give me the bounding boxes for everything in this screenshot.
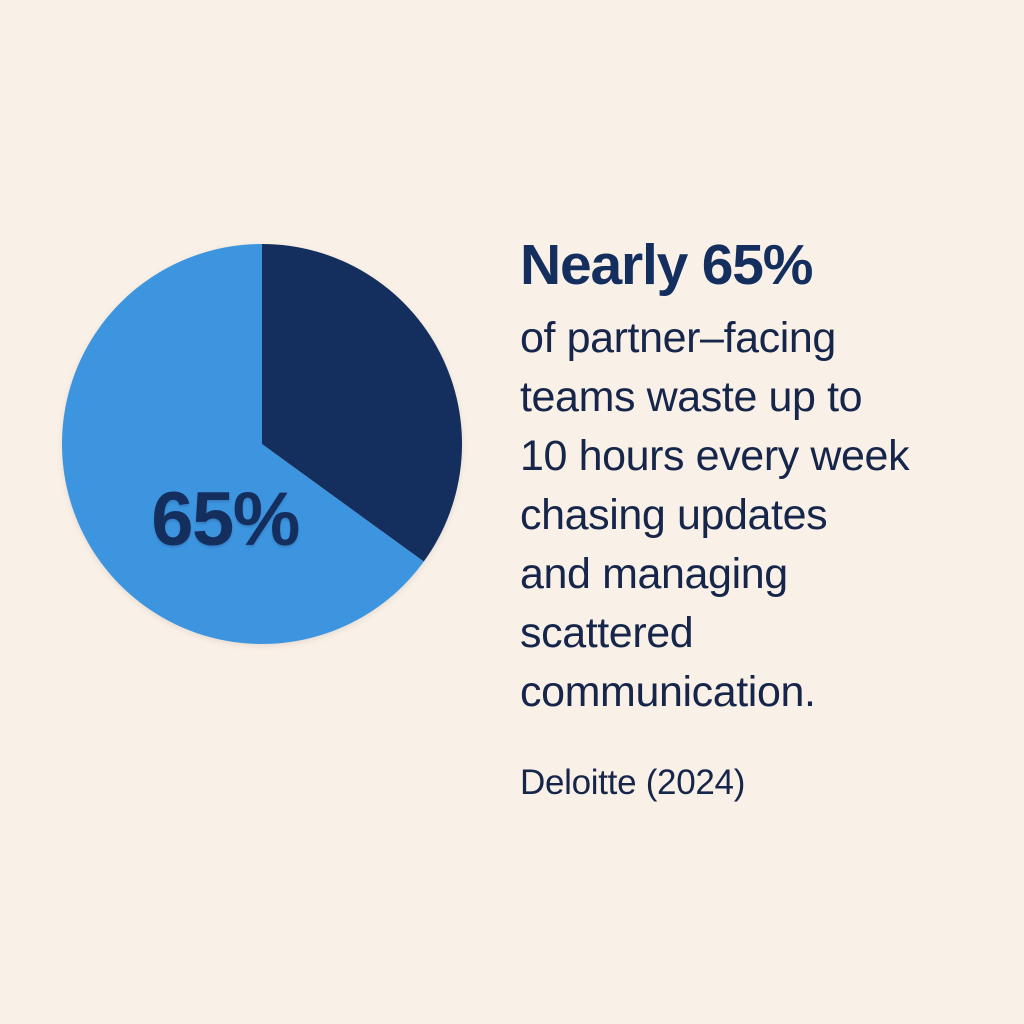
body-line: scattered [520, 609, 693, 657]
body-line: of partner–facing [520, 314, 836, 362]
pie-chart-svg [62, 244, 462, 644]
body-line: and managing [520, 550, 788, 598]
pie-chart: 65% [62, 244, 462, 644]
body-line: chasing updates [520, 491, 827, 539]
body-copy: of partner–facingteams waste up to10 hou… [520, 309, 972, 721]
body-line: 10 hours every week [520, 432, 909, 480]
headline: Nearly 65% [520, 236, 980, 295]
stat-card: 65% Nearly 65% of partner–facingteams wa… [0, 0, 1024, 1024]
text-column: Nearly 65% of partner–facingteams waste … [520, 236, 980, 804]
body-line: teams waste up to [520, 373, 862, 421]
source-attribution: Deloitte (2024) [520, 762, 980, 804]
body-line: communication. [520, 668, 816, 716]
